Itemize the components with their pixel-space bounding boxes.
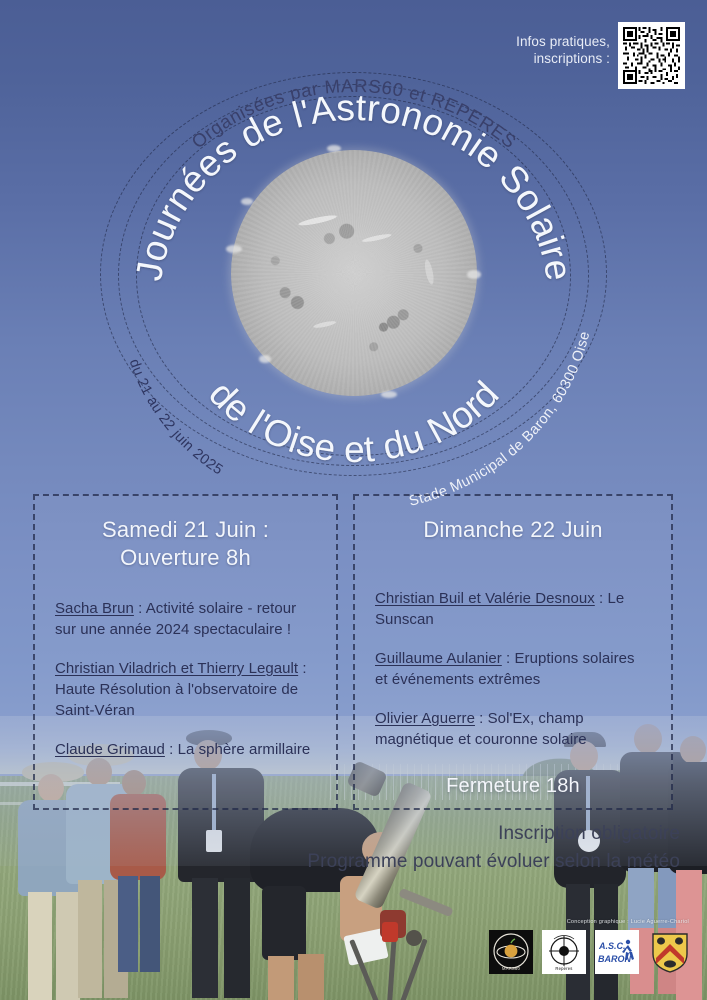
asc-baron-logo[interactable]: A.S.C. BARON A.S.C. BARON: [595, 930, 639, 974]
title-line-1: Journées de l'Astronomie Solaire: [128, 87, 580, 284]
talk-item: Christian Buil et Valérie Desnoux : Le S…: [375, 588, 651, 630]
talk-speaker: Guillaume Aulanier: [375, 650, 502, 667]
talk-speaker: Christian Buil et Valérie Desnoux: [375, 590, 595, 607]
partner-logos: MARS60 Repères A.S.C. BARON: [489, 930, 692, 974]
talk-item: Sacha Brun : Activité solaire - retour s…: [55, 598, 316, 640]
program-box-sunday: Dimanche 22 Juin Christian Buil et Valér…: [353, 494, 673, 810]
mars60-logo[interactable]: MARS60: [489, 930, 533, 974]
talk-separator: :: [298, 660, 306, 677]
title-line-2: de l'Oise et du Nord: [201, 373, 506, 470]
sunday-title-line-1: Dimanche 22 Juin: [355, 516, 671, 544]
svg-text:A.S.C.: A.S.C.: [598, 941, 626, 951]
saturday-title-line-2: Ouverture 8h: [35, 544, 336, 572]
fermeture-text: Fermeture 18h: [353, 775, 673, 798]
talk-speaker: Claude Grimaud: [55, 741, 165, 758]
talk-item: Claude Grimaud : La sphère armillaire: [55, 739, 316, 760]
baron-coat-of-arms-icon: [648, 930, 692, 974]
dates-arc-text: du 21 au 22 juin 2025: [126, 357, 226, 478]
talk-speaker: Olivier Aguerre: [375, 710, 475, 727]
curved-title-group: Organisées par MARS60 et REPERES Journée…: [0, 0, 707, 500]
mars60-logo-label: MARS60: [489, 966, 533, 971]
talk-subject: Haute Résolution à l'observatoire de Sai…: [55, 681, 298, 719]
poster-root: Infos pratiques, inscriptions :: [0, 0, 707, 1000]
talk-separator: :: [134, 600, 146, 617]
talk-item: Olivier Aguerre : Sol'Ex, champ magnétiq…: [375, 708, 651, 750]
talk-item: Guillaume Aulanier : Eruptions solaires …: [375, 648, 651, 690]
talk-item: Christian Viladrich et Thierry Legault :…: [55, 658, 316, 721]
talk-speaker: Christian Viladrich et Thierry Legault: [55, 660, 298, 677]
graphic-design-credit: Conception graphique : Lucie Aguerre-Cha…: [567, 919, 689, 925]
program-box-saturday: Samedi 21 Juin : Ouverture 8h Sacha Brun…: [33, 494, 338, 810]
inscription-note: Inscription obligatoire: [280, 820, 680, 848]
talk-subject: La sphère armillaire: [178, 741, 311, 758]
saturday-title-line-1: Samedi 21 Juin :: [35, 516, 336, 544]
talk-separator: :: [475, 710, 488, 727]
reperes-logo[interactable]: Repères: [542, 930, 586, 974]
sunday-title: Dimanche 22 Juin: [355, 516, 671, 544]
closing-notes: Inscription obligatoire Programme pouvan…: [280, 820, 680, 876]
weather-note: Programme pouvant évoluer selon la météo: [280, 848, 680, 876]
talk-separator: :: [595, 590, 608, 607]
saturday-talk-list: Sacha Brun : Activité solaire - retour s…: [55, 598, 316, 760]
saturday-title: Samedi 21 Juin : Ouverture 8h: [35, 516, 336, 572]
talk-separator: :: [165, 741, 178, 758]
sunday-talk-list: Christian Buil et Valérie Desnoux : Le S…: [375, 588, 651, 750]
talk-separator: :: [502, 650, 515, 667]
reperes-logo-label: Repères: [542, 966, 586, 971]
talk-speaker: Sacha Brun: [55, 600, 134, 617]
baron-coat-of-arms[interactable]: [648, 930, 692, 974]
